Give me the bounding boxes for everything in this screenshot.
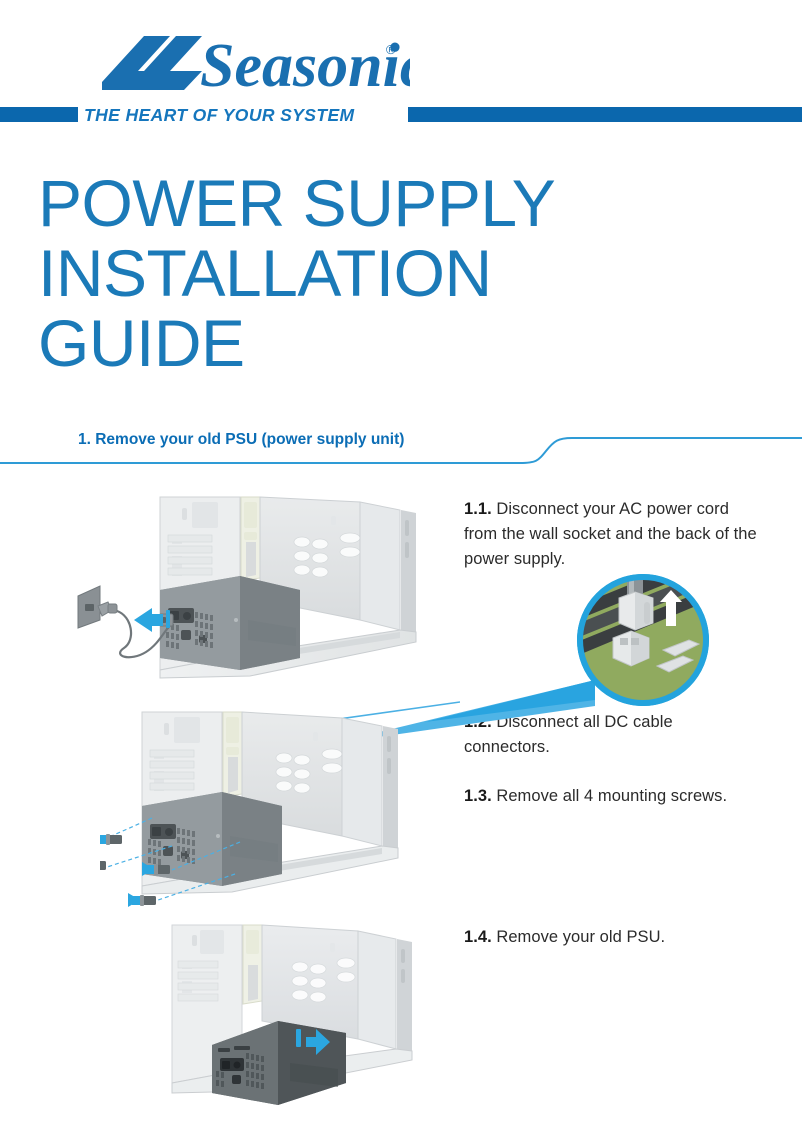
magnifier-svg — [565, 568, 755, 723]
section-heading-block: 1. Remove your old PSU (power supply uni… — [0, 425, 802, 470]
step-1-1: 1.1. Disconnect your AC power cord from … — [464, 497, 764, 572]
illustration-remove-ac-cord — [60, 480, 460, 695]
step-1-4: 1.4. Remove your old PSU. — [464, 925, 764, 950]
step-1-4-number: 1.4. — [464, 928, 492, 946]
step-1-1-text: Disconnect your AC power cord from the w… — [464, 500, 757, 568]
illustration-1-svg — [60, 480, 460, 695]
page-title-line-2: INSTALLATION — [38, 238, 598, 308]
seasonic-logo: Seasonic ® — [100, 32, 410, 94]
illustration-3-svg — [150, 915, 460, 1110]
step-1-3: 1.3. Remove all 4 mounting screws. — [464, 784, 764, 809]
page-title-line-3: GUIDE — [38, 308, 598, 378]
tagline-bar-left-block — [0, 107, 78, 122]
dc-socket — [613, 631, 649, 666]
step-1-3-number: 1.3. — [464, 787, 492, 805]
page-title: POWER SUPPLY INSTALLATION GUIDE — [38, 168, 598, 378]
psu-unit — [160, 576, 300, 670]
brand-header: Seasonic ® THE HEART OF YOUR SYSTEM — [0, 0, 802, 140]
case-front-edge — [342, 718, 398, 848]
case-motherboard-slot — [243, 925, 262, 1004]
brand-tagline: THE HEART OF YOUR SYSTEM — [84, 105, 355, 125]
case-front-edge — [360, 502, 416, 632]
seasonic-logo-svg: Seasonic ® — [100, 32, 410, 94]
case-front-edge — [358, 931, 412, 1051]
case-motherboard-slot — [241, 497, 260, 581]
tagline-bar-right-block — [408, 107, 802, 122]
illustration-psu-removal — [150, 915, 460, 1110]
case-motherboard-slot — [223, 712, 242, 797]
step-1-4-text: Remove your old PSU. — [492, 928, 665, 946]
illustration-remove-mounting-screws — [100, 700, 460, 915]
page-title-line-1: POWER SUPPLY — [38, 168, 598, 238]
tagline-bar: THE HEART OF YOUR SYSTEM — [0, 105, 802, 125]
step-1-1-number: 1.1. — [464, 500, 492, 518]
registered-trademark-icon: ® — [386, 42, 396, 57]
illustration-2-svg — [100, 700, 460, 915]
dc-connector-magnifier — [565, 568, 755, 723]
step-1-3-text: Remove all 4 mounting screws. — [492, 787, 727, 805]
section-heading-text: 1. Remove your old PSU (power supply uni… — [78, 431, 404, 449]
logo-wordmark: Seasonic — [200, 32, 410, 94]
